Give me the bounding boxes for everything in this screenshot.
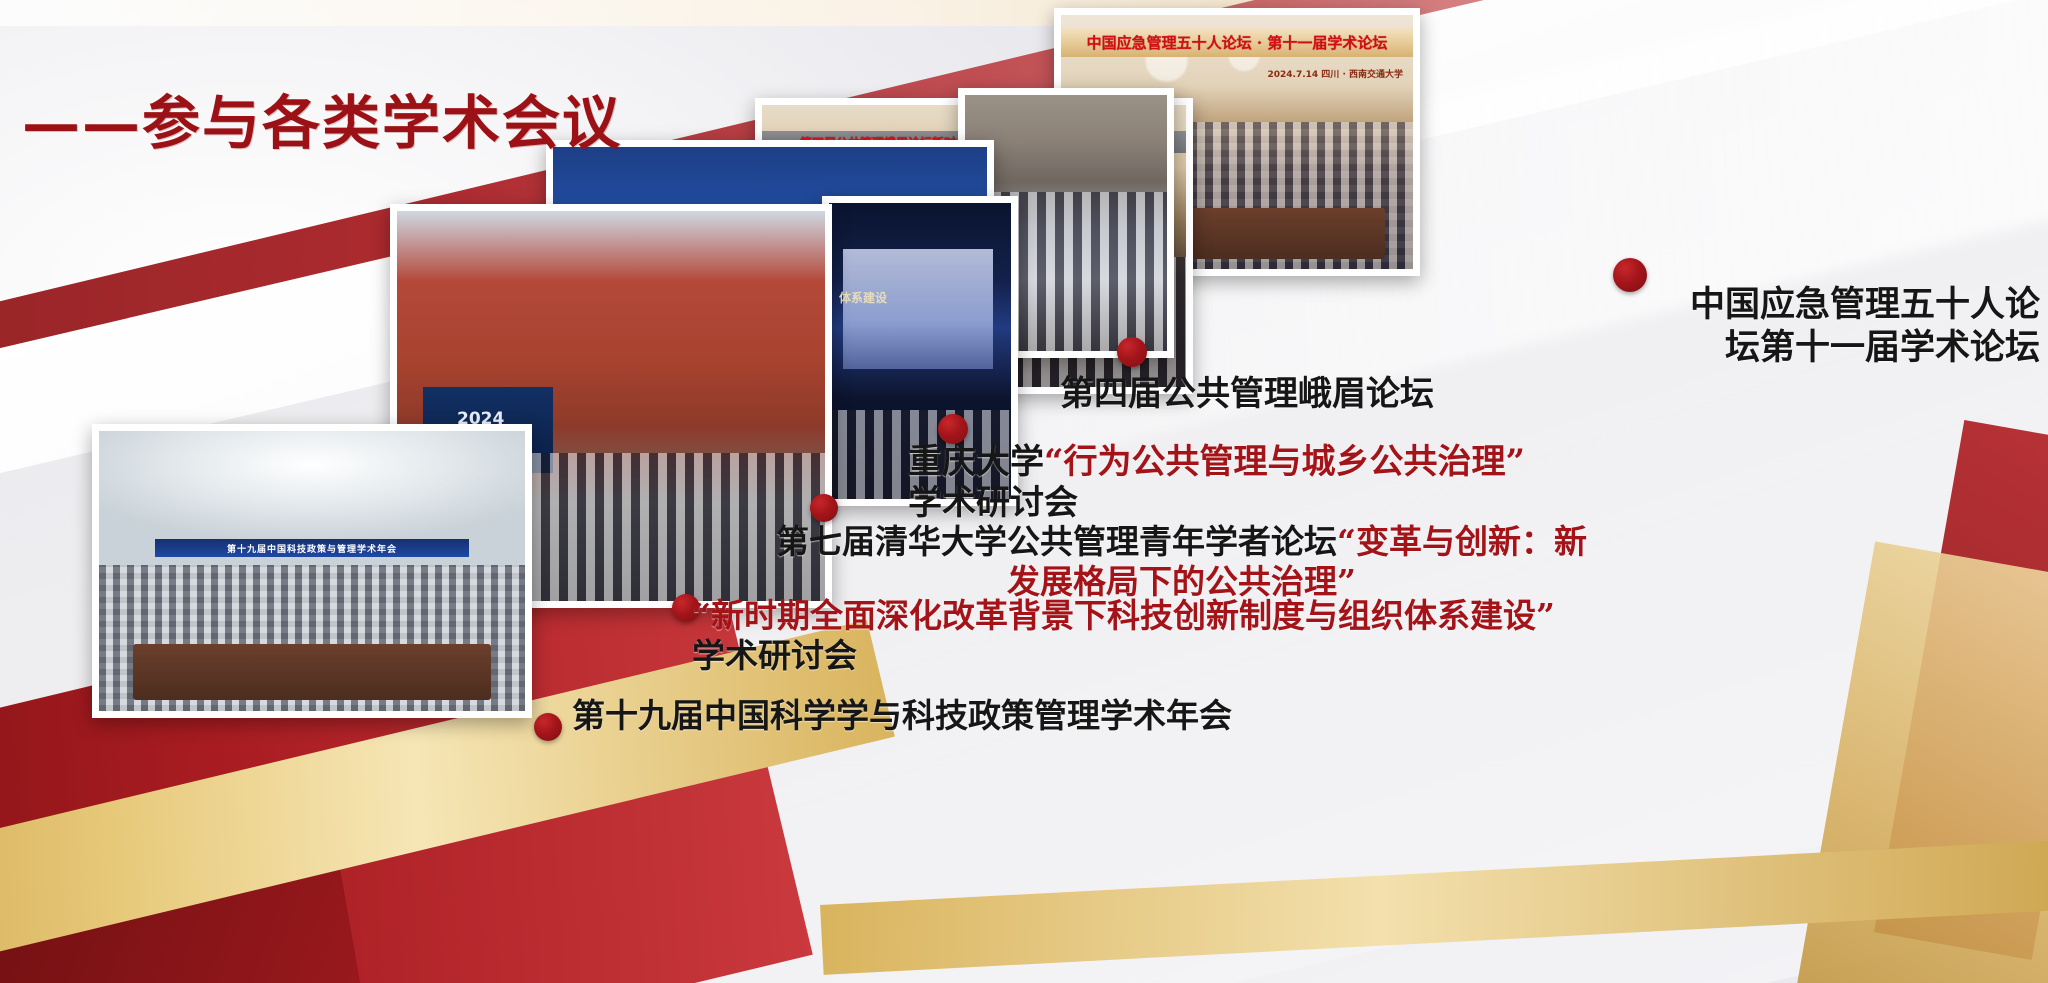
- photo-screen-room-projector: [843, 249, 993, 369]
- photo-lecture-hall-image: 第十九届中国科技政策与管理学术年会: [99, 431, 525, 711]
- photo-screen-room-banner-text: 体系建设: [839, 289, 999, 306]
- caption-cqu-seminar: 重庆大学“行为公共管理与城乡公共治理” 学术研讨会: [908, 442, 1525, 525]
- caption-emei-forum: 第四届公共管理峨眉论坛: [1060, 374, 1434, 415]
- caption-annual-meeting-line1: 第十九届中国科学学与科技政策管理学术年会: [572, 696, 1232, 736]
- photo-lecture-hall[interactable]: 第十九届中国科技政策与管理学术年会: [92, 424, 532, 718]
- marker-tsinghua-forum[interactable]: [810, 494, 838, 522]
- caption-sti-seminar-line1: “新时期全面深化改革背景下科技创新制度与组织体系建设”: [692, 596, 1555, 636]
- caption-annual-meeting: 第十九届中国科学学与科技政策管理学术年会: [572, 696, 1232, 736]
- caption-cqu-seminar-prefix: 重庆大学: [908, 442, 1044, 482]
- caption-cqu-seminar-line2: 学术研讨会: [908, 483, 1525, 524]
- caption-emergency-forum-line2: 坛第十一届学术论坛: [1690, 327, 2040, 370]
- photo-emergency-forum-banner: 中国应急管理五十人论坛 · 第十一届学术论坛: [1061, 27, 1413, 57]
- caption-tsinghua-forum-prefix: 第七届清华大学公共管理青年学者论坛: [776, 522, 1337, 561]
- caption-emergency-forum-line1: 中国应急管理五十人论: [1690, 284, 2040, 327]
- caption-tsinghua-forum-highlight: “变革与创新：新: [1337, 522, 1587, 561]
- photo-lecture-hall-banner: 第十九届中国科技政策与管理学术年会: [155, 539, 469, 557]
- photo-lecture-hall-podium: [133, 644, 491, 700]
- marker-cqu-seminar[interactable]: [938, 414, 968, 444]
- photo-lecture-hall-banner-text: 第十九届中国科技政策与管理学术年会: [227, 542, 397, 555]
- photo-emergency-forum-subbanner: 2024.7.14 四川 · 西南交通大学: [1268, 67, 1404, 80]
- caption-sti-seminar: “新时期全面深化改革背景下科技创新制度与组织体系建设” 学术研讨会: [692, 596, 1555, 677]
- page-title: ——参与各类学术会议: [22, 76, 622, 160]
- marker-emergency-forum[interactable]: [1613, 258, 1647, 292]
- caption-tsinghua-forum: 第七届清华大学公共管理青年学者论坛“变革与创新：新 发展格局下的公共治理”: [776, 522, 1587, 603]
- marker-annual-meeting[interactable]: [534, 713, 562, 741]
- caption-emei-forum-line1: 第四届公共管理峨眉论坛: [1060, 374, 1434, 415]
- caption-emergency-forum: 中国应急管理五十人论 坛第十一届学术论坛: [1690, 284, 2040, 369]
- caption-sti-seminar-line2: 学术研讨会: [692, 636, 1555, 676]
- caption-tsinghua-forum-line1: 第七届清华大学公共管理青年学者论坛“变革与创新：新: [776, 522, 1587, 562]
- caption-cqu-seminar-line1: 重庆大学“行为公共管理与城乡公共治理”: [908, 442, 1525, 483]
- marker-emei-forum[interactable]: [1117, 337, 1147, 367]
- caption-cqu-seminar-highlight: “行为公共管理与城乡公共治理”: [1044, 442, 1525, 482]
- slide-canvas: ——参与各类学术会议 中国应急管理五十人论坛 · 第十一届学术论坛 2024.7…: [0, 0, 2048, 983]
- photo-emergency-forum-banner-text: 中国应急管理五十人论坛 · 第十一届学术论坛: [1087, 32, 1388, 53]
